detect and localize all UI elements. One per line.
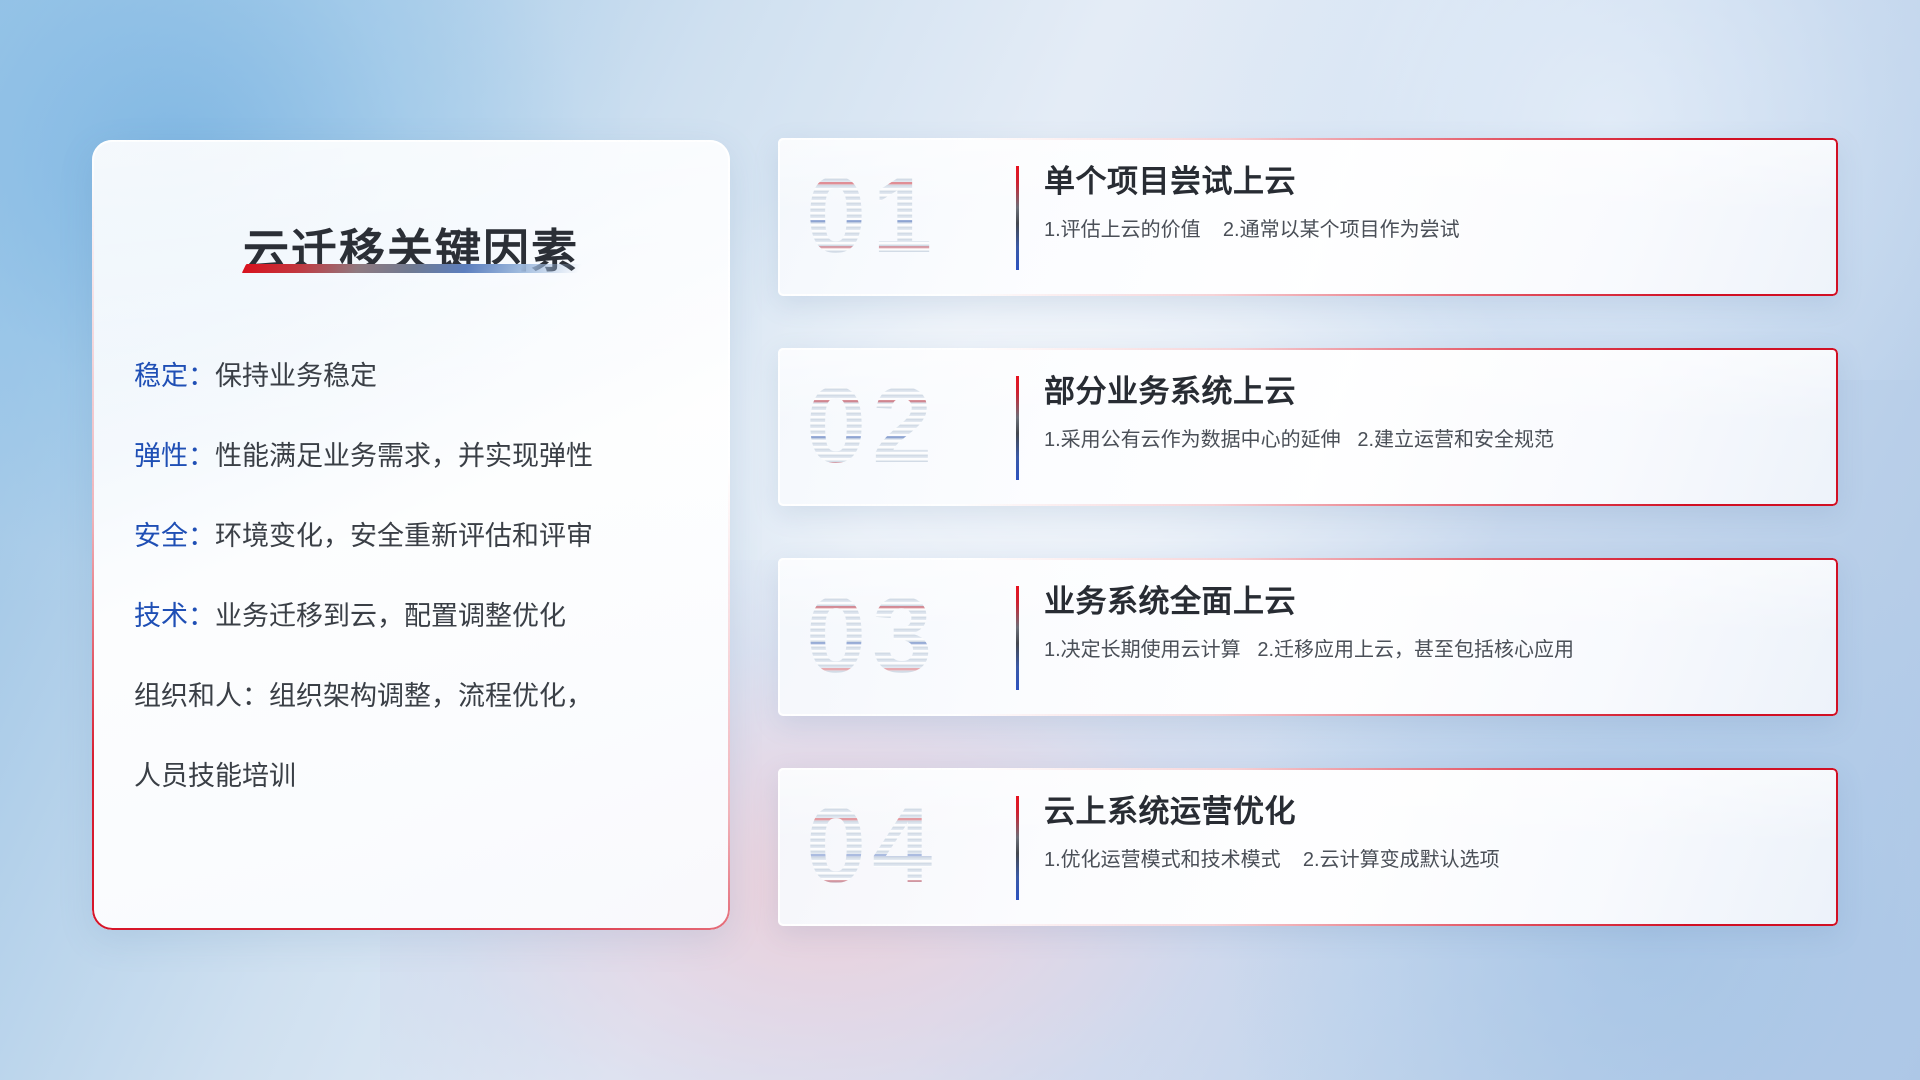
list-item-label: 组织和人：: [134, 681, 269, 711]
key-factors-panel: 云迁移关键因素 稳定：保持业务稳定 弹性：性能满足业务需求，并实现弹性 安全：环…: [92, 140, 730, 930]
list-item-label: 弹性：: [134, 441, 215, 471]
list-item-label: 技术：: [134, 601, 215, 631]
card-divider-bar: [1016, 586, 1019, 690]
list-item: 技术：业务迁移到云，配置调整优化: [134, 598, 700, 634]
title-underline-bar: [242, 264, 582, 273]
stage-number-02-icon: 02: [806, 374, 986, 480]
card-description: 1.优化运营模式和技术模式 2.云计算变成默认选项: [1044, 846, 1812, 874]
list-item-text: 业务迁移到云，配置调整优化: [215, 601, 566, 631]
list-item-text: 保持业务稳定: [215, 361, 377, 391]
card-description: 1.采用公有云作为数据中心的延伸 2.建立运营和安全规范: [1044, 426, 1812, 454]
card-body: 部分业务系统上云 1.采用公有云作为数据中心的延伸 2.建立运营和安全规范: [1044, 370, 1812, 454]
list-item: 安全：环境变化，安全重新评估和评审: [134, 518, 700, 554]
card-divider-bar: [1016, 166, 1019, 270]
list-item-label: 稳定：: [134, 361, 215, 391]
card-description: 1.决定长期使用云计算 2.迁移应用上云，甚至包括核心应用: [1044, 636, 1812, 664]
card-body: 单个项目尝试上云 1.评估上云的价值 2.通常以某个项目作为尝试: [1044, 160, 1812, 244]
card-title: 部分业务系统上云: [1044, 370, 1812, 414]
list-item-text: 环境变化，安全重新评估和评审: [215, 521, 593, 551]
stage-number-04-icon: 04: [806, 794, 986, 900]
list-item-continuation: 人员技能培训: [134, 758, 700, 794]
list-item-label: 安全：: [134, 521, 215, 551]
list-item: 弹性：性能满足业务需求，并实现弹性: [134, 438, 700, 474]
stage-card-03[interactable]: 03 业务系统全面上云 1.决定长期使用云计算 2.迁移应用上云，甚至包括核心应…: [778, 558, 1838, 716]
key-factors-list: 稳定：保持业务稳定 弹性：性能满足业务需求，并实现弹性 安全：环境变化，安全重新…: [134, 358, 700, 794]
stage-card-02[interactable]: 02 部分业务系统上云 1.采用公有云作为数据中心的延伸 2.建立运营和安全规范: [778, 348, 1838, 506]
list-item-text: 人员技能培训: [134, 761, 296, 791]
stage-number-03-icon: 03: [806, 584, 986, 690]
card-title: 业务系统全面上云: [1044, 580, 1812, 624]
slide-stage: 云迁移关键因素 稳定：保持业务稳定 弹性：性能满足业务需求，并实现弹性 安全：环…: [0, 0, 1920, 1080]
list-item-text: 组织架构调整，流程优化，: [269, 681, 593, 711]
stage-card-04[interactable]: 04 云上系统运营优化 1.优化运营模式和技术模式 2.云计算变成默认选项: [778, 768, 1838, 926]
list-item-text: 性能满足业务需求，并实现弹性: [215, 441, 593, 471]
card-body: 业务系统全面上云 1.决定长期使用云计算 2.迁移应用上云，甚至包括核心应用: [1044, 580, 1812, 664]
card-divider-bar: [1016, 796, 1019, 900]
card-divider-bar: [1016, 376, 1019, 480]
card-title: 云上系统运营优化: [1044, 790, 1812, 834]
stage-number-01-icon: 01: [806, 164, 986, 270]
list-item: 稳定：保持业务稳定: [134, 358, 700, 394]
card-title: 单个项目尝试上云: [1044, 160, 1812, 204]
card-body: 云上系统运营优化 1.优化运营模式和技术模式 2.云计算变成默认选项: [1044, 790, 1812, 874]
migration-stages-list: 01 单个项目尝试上云 1.评估上云的价值 2.通常以某个项目作为尝试: [778, 138, 1838, 926]
stage-card-01[interactable]: 01 单个项目尝试上云 1.评估上云的价值 2.通常以某个项目作为尝试: [778, 138, 1838, 296]
list-item: 组织和人：组织架构调整，流程优化，: [134, 678, 700, 714]
card-description: 1.评估上云的价值 2.通常以某个项目作为尝试: [1044, 216, 1812, 244]
